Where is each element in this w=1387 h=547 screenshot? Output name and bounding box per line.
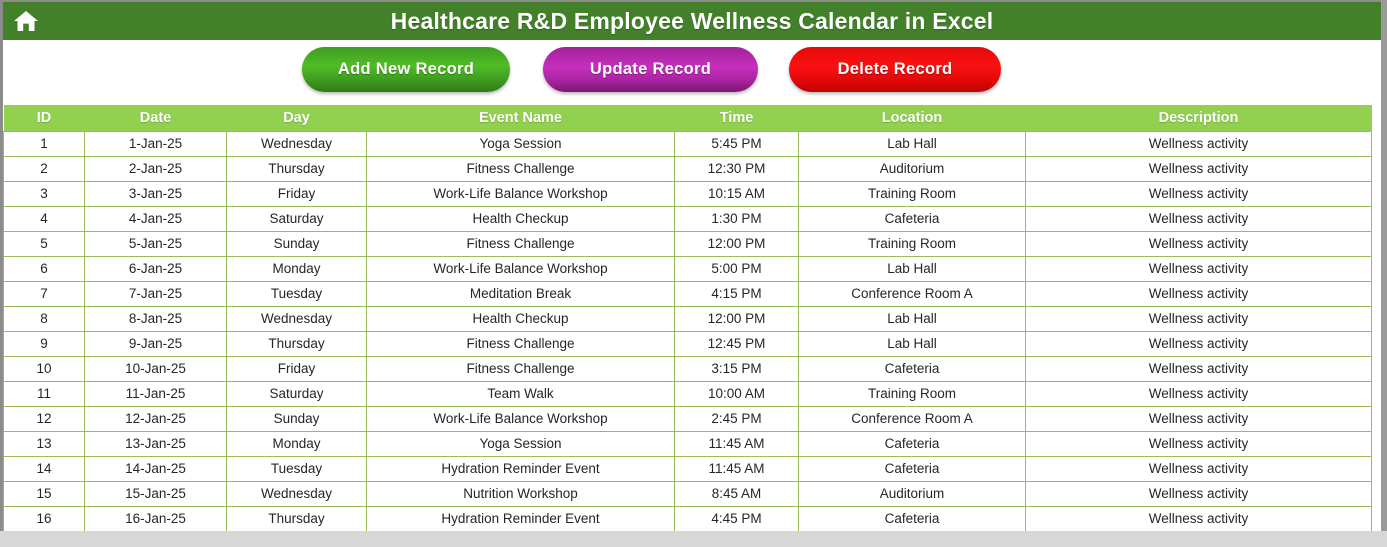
cell-event-name[interactable]: Fitness Challenge [367,357,675,382]
cell-day[interactable]: Saturday [227,382,367,407]
cell-date[interactable]: 10-Jan-25 [85,357,227,382]
cell-time[interactable]: 10:00 AM [675,382,799,407]
cell-event-name[interactable]: Nutrition Workshop [367,482,675,507]
cell-description[interactable]: Wellness activity [1026,457,1372,482]
cell-event-name[interactable]: Yoga Session [367,432,675,457]
cell-event-name[interactable]: Fitness Challenge [367,332,675,357]
table-row[interactable]: 88-Jan-25WednesdayHealth Checkup12:00 PM… [4,307,1372,332]
table-row[interactable]: 22-Jan-25ThursdayFitness Challenge12:30 … [4,157,1372,182]
cell-location[interactable]: Auditorium [799,157,1026,182]
table-row[interactable]: 1616-Jan-25ThursdayHydration Reminder Ev… [4,507,1372,532]
cell-time[interactable]: 2:45 PM [675,407,799,432]
cell-description[interactable]: Wellness activity [1026,332,1372,357]
table-body: 11-Jan-25WednesdayYoga Session5:45 PMLab… [4,132,1372,532]
cell-time[interactable]: 12:45 PM [675,332,799,357]
table-row[interactable]: 1515-Jan-25WednesdayNutrition Workshop8:… [4,482,1372,507]
cell-description[interactable]: Wellness activity [1026,357,1372,382]
cell-date[interactable]: 11-Jan-25 [85,382,227,407]
cell-event-name[interactable]: Meditation Break [367,282,675,307]
cell-id[interactable]: 15 [4,482,85,507]
cell-time[interactable]: 3:15 PM [675,357,799,382]
table-row[interactable]: 1313-Jan-25MondayYoga Session11:45 AMCaf… [4,432,1372,457]
cell-time[interactable]: 4:15 PM [675,282,799,307]
cell-day[interactable]: Sunday [227,232,367,257]
cell-date[interactable]: 3-Jan-25 [85,182,227,207]
cell-date[interactable]: 2-Jan-25 [85,157,227,182]
cell-date[interactable]: 4-Jan-25 [85,207,227,232]
cell-time[interactable]: 1:30 PM [675,207,799,232]
cell-location[interactable]: Training Room [799,382,1026,407]
cell-date[interactable]: 15-Jan-25 [85,482,227,507]
cell-location[interactable]: Cafeteria [799,507,1026,532]
cell-event-name[interactable]: Fitness Challenge [367,232,675,257]
cell-id[interactable]: 11 [4,382,85,407]
cell-date[interactable]: 6-Jan-25 [85,257,227,282]
table-row[interactable]: 55-Jan-25SundayFitness Challenge12:00 PM… [4,232,1372,257]
cell-day[interactable]: Thursday [227,332,367,357]
cell-description[interactable]: Wellness activity [1026,182,1372,207]
cell-date[interactable]: 5-Jan-25 [85,232,227,257]
cell-time[interactable]: 11:45 AM [675,457,799,482]
window-frame-right [1381,0,1387,547]
cell-day[interactable]: Friday [227,357,367,382]
cell-description[interactable]: Wellness activity [1026,207,1372,232]
cell-date[interactable]: 9-Jan-25 [85,332,227,357]
cell-date[interactable]: 16-Jan-25 [85,507,227,532]
window-frame-bottom [0,531,1387,547]
cell-description[interactable]: Wellness activity [1026,132,1372,157]
window-frame-top [0,0,1387,2]
cell-time[interactable]: 4:45 PM [675,507,799,532]
page-title: Healthcare R&D Employee Wellness Calenda… [49,8,1381,35]
cell-location[interactable]: Lab Hall [799,257,1026,282]
records-table: ID Date Day Event Name Time Location Des… [3,105,1372,532]
cell-event-name[interactable]: Health Checkup [367,307,675,332]
table-row[interactable]: 77-Jan-25TuesdayMeditation Break4:15 PMC… [4,282,1372,307]
table-row[interactable]: 44-Jan-25SaturdayHealth Checkup1:30 PMCa… [4,207,1372,232]
cell-description[interactable]: Wellness activity [1026,157,1372,182]
cell-time[interactable]: 8:45 AM [675,482,799,507]
cell-date[interactable]: 7-Jan-25 [85,282,227,307]
cell-day[interactable]: Thursday [227,157,367,182]
cell-location[interactable]: Conference Room A [799,407,1026,432]
cell-description[interactable]: Wellness activity [1026,507,1372,532]
cell-location[interactable]: Training Room [799,182,1026,207]
cell-date[interactable]: 8-Jan-25 [85,307,227,332]
cell-description[interactable]: Wellness activity [1026,282,1372,307]
app-window: Healthcare R&D Employee Wellness Calenda… [0,0,1387,547]
cell-description[interactable]: Wellness activity [1026,307,1372,332]
cell-day[interactable]: Wednesday [227,307,367,332]
cell-id[interactable]: 9 [4,332,85,357]
cell-id[interactable]: 8 [4,307,85,332]
cell-day[interactable]: Tuesday [227,457,367,482]
cell-id[interactable]: 4 [4,207,85,232]
column-header-location[interactable]: Location [799,105,1026,132]
cell-day[interactable]: Tuesday [227,282,367,307]
cell-description[interactable]: Wellness activity [1026,232,1372,257]
cell-event-name[interactable]: Fitness Challenge [367,157,675,182]
cell-description[interactable]: Wellness activity [1026,482,1372,507]
cell-description[interactable]: Wellness activity [1026,407,1372,432]
cell-id[interactable]: 7 [4,282,85,307]
cell-location[interactable]: Auditorium [799,482,1026,507]
table-header-row: ID Date Day Event Name Time Location Des… [4,105,1372,132]
column-header-date[interactable]: Date [85,105,227,132]
cell-location[interactable]: Lab Hall [799,132,1026,157]
cell-time[interactable]: 11:45 AM [675,432,799,457]
cell-location[interactable]: Lab Hall [799,307,1026,332]
cell-id[interactable]: 16 [4,507,85,532]
cell-location[interactable]: Cafeteria [799,432,1026,457]
table-row[interactable]: 1111-Jan-25SaturdayTeam Walk10:00 AMTrai… [4,382,1372,407]
cell-id[interactable]: 3 [4,182,85,207]
column-header-event-name[interactable]: Event Name [367,105,675,132]
home-icon [13,9,39,33]
cell-date[interactable]: 14-Jan-25 [85,457,227,482]
cell-day[interactable]: Sunday [227,407,367,432]
cell-date[interactable]: 12-Jan-25 [85,407,227,432]
records-table-container: ID Date Day Event Name Time Location Des… [3,105,1371,532]
cell-day[interactable]: Wednesday [227,132,367,157]
cell-description[interactable]: Wellness activity [1026,257,1372,282]
cell-event-name[interactable]: Work-Life Balance Workshop [367,182,675,207]
table-row[interactable]: 33-Jan-25FridayWork-Life Balance Worksho… [4,182,1372,207]
cell-day[interactable]: Wednesday [227,482,367,507]
home-button[interactable] [3,2,49,40]
cell-time[interactable]: 5:45 PM [675,132,799,157]
table-row[interactable]: 66-Jan-25MondayWork-Life Balance Worksho… [4,257,1372,282]
cell-id[interactable]: 10 [4,357,85,382]
cell-time[interactable]: 12:30 PM [675,157,799,182]
cell-time[interactable]: 10:15 AM [675,182,799,207]
cell-event-name[interactable]: Team Walk [367,382,675,407]
cell-time[interactable]: 12:00 PM [675,307,799,332]
table-row[interactable]: 99-Jan-25ThursdayFitness Challenge12:45 … [4,332,1372,357]
update-record-button[interactable]: Update Record [543,47,758,92]
title-bar: Healthcare R&D Employee Wellness Calenda… [3,2,1381,40]
cell-event-name[interactable]: Work-Life Balance Workshop [367,257,675,282]
cell-time[interactable]: 12:00 PM [675,232,799,257]
cell-day[interactable]: Monday [227,432,367,457]
window-frame-left [0,0,3,547]
cell-date[interactable]: 1-Jan-25 [85,132,227,157]
cell-location[interactable]: Cafeteria [799,357,1026,382]
cell-event-name[interactable]: Health Checkup [367,207,675,232]
cell-location[interactable]: Lab Hall [799,332,1026,357]
cell-description[interactable]: Wellness activity [1026,382,1372,407]
cell-event-name[interactable]: Hydration Reminder Event [367,457,675,482]
cell-day[interactable]: Saturday [227,207,367,232]
cell-description[interactable]: Wellness activity [1026,432,1372,457]
cell-event-name[interactable]: Hydration Reminder Event [367,507,675,532]
column-header-description[interactable]: Description [1026,105,1372,132]
cell-day[interactable]: Thursday [227,507,367,532]
action-toolbar: Add New Record Update Record Delete Reco… [3,40,1381,102]
column-header-day[interactable]: Day [227,105,367,132]
cell-day[interactable]: Monday [227,257,367,282]
cell-id[interactable]: 6 [4,257,85,282]
table-row[interactable]: 11-Jan-25WednesdayYoga Session5:45 PMLab… [4,132,1372,157]
cell-id[interactable]: 1 [4,132,85,157]
cell-location[interactable]: Training Room [799,232,1026,257]
table-row[interactable]: 1212-Jan-25SundayWork-Life Balance Works… [4,407,1372,432]
cell-id[interactable]: 13 [4,432,85,457]
cell-id[interactable]: 5 [4,232,85,257]
column-header-id[interactable]: ID [4,105,85,132]
cell-time[interactable]: 5:00 PM [675,257,799,282]
cell-location[interactable]: Cafeteria [799,457,1026,482]
cell-id[interactable]: 14 [4,457,85,482]
cell-event-name[interactable]: Work-Life Balance Workshop [367,407,675,432]
add-new-record-button[interactable]: Add New Record [302,47,510,92]
cell-id[interactable]: 2 [4,157,85,182]
cell-event-name[interactable]: Yoga Session [367,132,675,157]
cell-location[interactable]: Cafeteria [799,207,1026,232]
table-row[interactable]: 1414-Jan-25TuesdayHydration Reminder Eve… [4,457,1372,482]
delete-record-button[interactable]: Delete Record [789,47,1001,92]
cell-id[interactable]: 12 [4,407,85,432]
cell-day[interactable]: Friday [227,182,367,207]
table-row[interactable]: 1010-Jan-25FridayFitness Challenge3:15 P… [4,357,1372,382]
cell-date[interactable]: 13-Jan-25 [85,432,227,457]
column-header-time[interactable]: Time [675,105,799,132]
cell-location[interactable]: Conference Room A [799,282,1026,307]
